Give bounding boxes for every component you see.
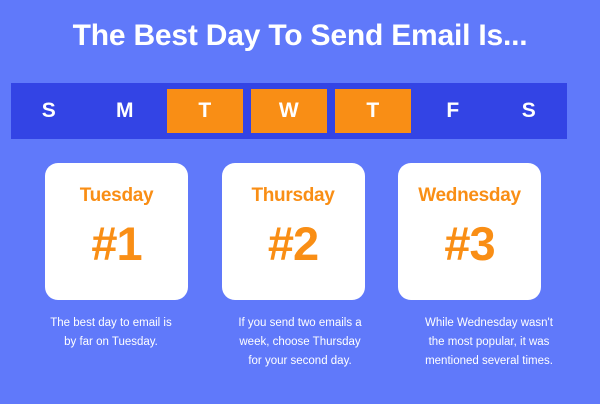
- rank-card-wednesday: Wednesday #3: [398, 163, 541, 300]
- weekday-label: T: [198, 99, 211, 123]
- rank-card-day-label: Thursday: [251, 185, 334, 207]
- rank-card-rank-value: #2: [268, 216, 318, 272]
- rank-card-day-label: Wednesday: [418, 185, 521, 207]
- weekday-strip: S M T W T F S: [11, 83, 567, 139]
- rank-card-thursday: Thursday #2: [222, 163, 365, 300]
- rank-card-day-label: Tuesday: [80, 185, 154, 207]
- weekday-cell-friday: F: [415, 89, 491, 133]
- weekday-label: T: [366, 99, 379, 123]
- weekday-label: W: [279, 99, 299, 123]
- rank-card-rank-value: #3: [444, 216, 494, 272]
- rank-card-tuesday: Tuesday #1: [45, 163, 188, 300]
- weekday-cell-monday: M: [87, 89, 163, 133]
- weekday-cell-saturday: S: [491, 89, 567, 133]
- caption-thursday: If you send two emails a week, choose Th…: [211, 314, 389, 371]
- caption-list: The best day to email is by far on Tuesd…: [22, 314, 578, 371]
- weekday-cell-thursday: T: [335, 89, 411, 133]
- weekday-cell-tuesday: T: [167, 89, 243, 133]
- rank-card-rank-value: #1: [91, 216, 141, 272]
- weekday-label: S: [42, 99, 57, 123]
- caption-wednesday: While Wednesday wasn't the most popular,…: [400, 314, 578, 371]
- weekday-cell-sunday: S: [11, 89, 87, 133]
- weekday-label: S: [522, 99, 537, 123]
- page-title: The Best Day To Send Email Is...: [0, 16, 600, 56]
- weekday-label: M: [116, 99, 134, 123]
- infographic-root: The Best Day To Send Email Is... S M T W…: [0, 0, 600, 404]
- rank-card-list: Tuesday #1 Thursday #2 Wednesday #3: [45, 163, 541, 300]
- weekday-cell-wednesday: W: [251, 89, 327, 133]
- weekday-label: F: [446, 99, 459, 123]
- caption-tuesday: The best day to email is by far on Tuesd…: [22, 314, 200, 371]
